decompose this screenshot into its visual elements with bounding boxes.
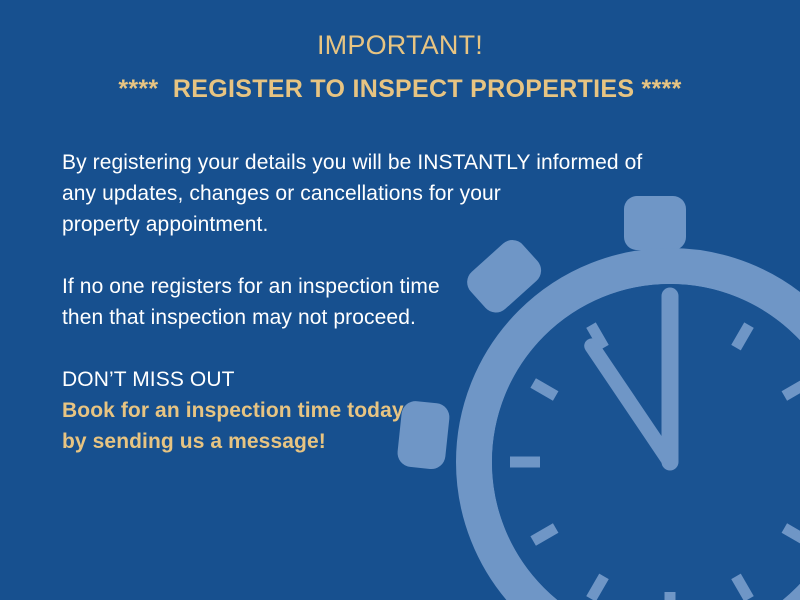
body-paragraph-2: If no one registers for an inspection ti… bbox=[62, 271, 722, 333]
cta-line-2: Book for an inspection time today bbox=[62, 395, 722, 426]
heading-block: IMPORTANT! **** REGISTER TO INSPECT PROP… bbox=[0, 28, 800, 106]
slide-content: IMPORTANT! **** REGISTER TO INSPECT PROP… bbox=[0, 0, 800, 600]
paragraph-spacer-1 bbox=[62, 240, 722, 271]
paragraph-spacer-2 bbox=[62, 333, 722, 364]
body-block: By registering your details you will be … bbox=[62, 147, 722, 457]
body-paragraph-1: By registering your details you will be … bbox=[62, 147, 722, 240]
page-title: IMPORTANT! bbox=[0, 28, 800, 62]
promo-slide: IMPORTANT! **** REGISTER TO INSPECT PROP… bbox=[0, 0, 800, 600]
cta-headline: DON’T MISS OUT bbox=[62, 364, 722, 395]
page-subtitle: **** REGISTER TO INSPECT PROPERTIES **** bbox=[0, 72, 800, 106]
cta-line-3: by sending us a message! bbox=[62, 426, 722, 457]
